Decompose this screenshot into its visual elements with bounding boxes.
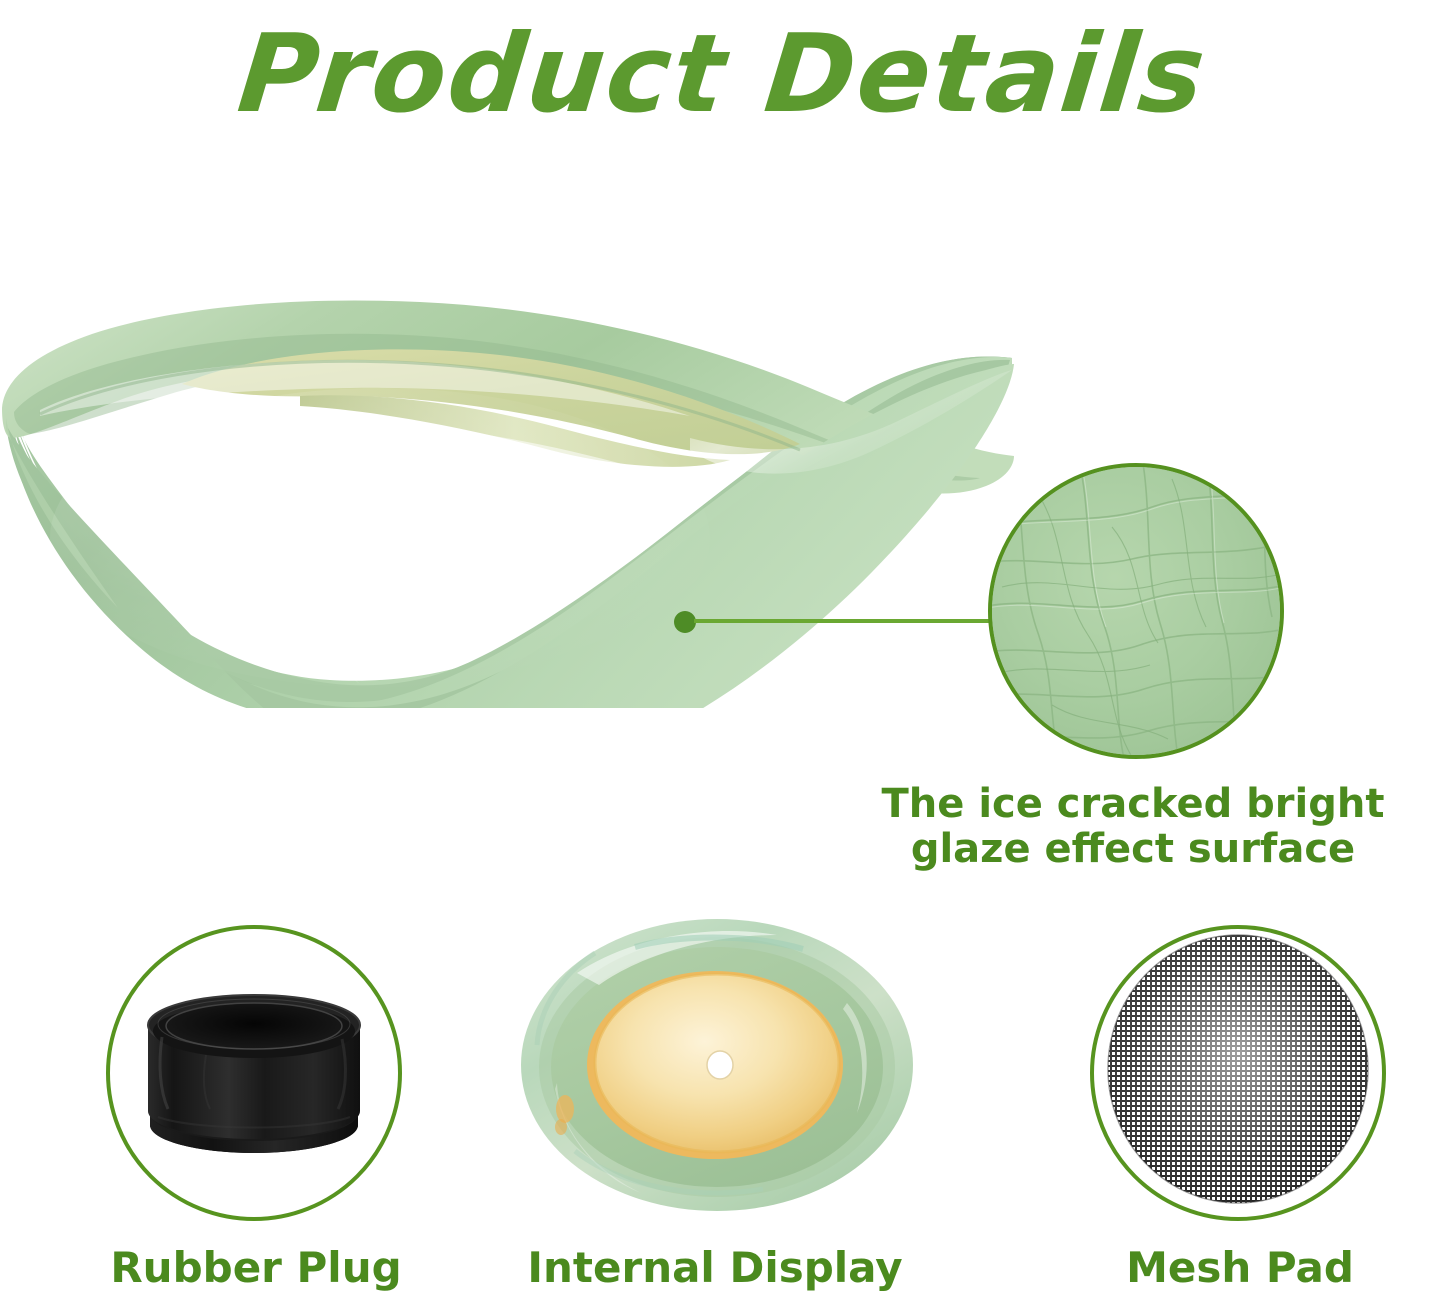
crackle-glaze-closeup-circle [988, 463, 1284, 759]
feature-internal-display: Internal Display [565, 925, 865, 1310]
feature-mesh-pad: Mesh Pad [1090, 925, 1390, 1310]
callout-leader-line [694, 619, 994, 623]
feature-rubber-plug: Rubber Plug [106, 925, 406, 1310]
callout-caption-line-2: glaze effect surface [830, 827, 1436, 872]
feature-label-internal-display: Internal Display [505, 1243, 925, 1292]
callout-anchor-dot [674, 611, 696, 633]
rubber-plug-icon [106, 925, 402, 1221]
callout-caption-line-1: The ice cracked bright [830, 782, 1436, 827]
feature-label-mesh-pad: Mesh Pad [1045, 1243, 1435, 1292]
page-title: Product Details [0, 18, 1445, 131]
internal-display-icon [517, 913, 917, 1233]
mesh-pad-icon [1090, 925, 1386, 1221]
feature-label-rubber-plug: Rubber Plug [46, 1243, 466, 1292]
callout-caption: The ice cracked bright glaze effect surf… [830, 782, 1436, 872]
hero-product-image [0, 288, 1020, 708]
product-details-page: Product Details [0, 0, 1445, 1310]
